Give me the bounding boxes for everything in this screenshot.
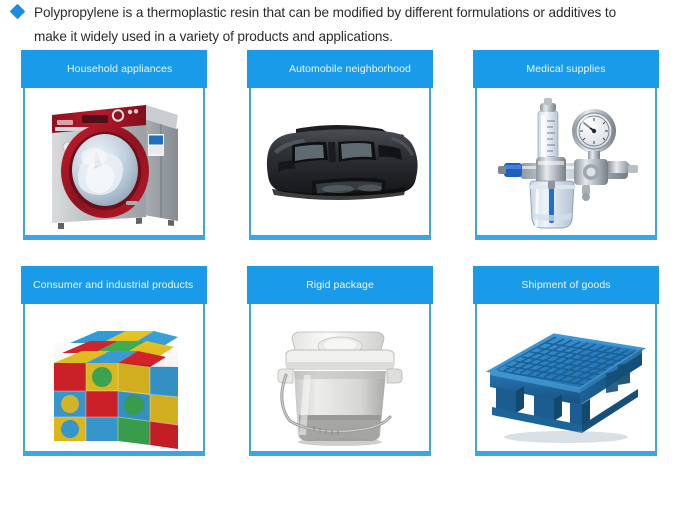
card-image-washing-machine: [23, 88, 205, 240]
card-title: Automobile neighborhood: [289, 63, 411, 76]
card-header: Automobile neighborhood: [247, 50, 433, 88]
card-image-plastic-pail: [249, 304, 431, 456]
oxygen-regulator-photo: [478, 89, 654, 235]
card-shipment-of-goods[interactable]: Shipment of goods: [473, 266, 659, 456]
intro-paragraph: Polypropylene is a thermoplastic resin t…: [0, 0, 684, 46]
diamond-bullet-icon: [9, 4, 25, 20]
car-bumper-photo: [252, 89, 428, 235]
card-title: Shipment of goods: [521, 279, 610, 292]
card-header: Rigid package: [247, 266, 433, 304]
bullet-icon-wrap: [0, 0, 34, 17]
card-automobile-neighborhood[interactable]: Automobile neighborhood: [247, 50, 433, 240]
card-image-plastic-pallet: [475, 304, 657, 456]
card-header: Consumer and industrial products: [21, 266, 207, 304]
washing-machine-photo: [26, 89, 202, 235]
plastic-pail-photo: [252, 305, 428, 451]
card-image-car-bumper: [249, 88, 431, 240]
card-title: Household appliances: [67, 63, 172, 76]
intro-text: Polypropylene is a thermoplastic resin t…: [34, 0, 684, 49]
card-header: Household appliances: [21, 50, 207, 88]
card-medical-supplies[interactable]: Medical supplies: [473, 50, 659, 240]
card-header: Shipment of goods: [473, 266, 659, 304]
card-rigid-package[interactable]: Rigid package: [247, 266, 433, 456]
card-household-appliances[interactable]: Household appliances: [21, 50, 207, 240]
card-image-oxygen-regulator: [475, 88, 657, 240]
card-title: Medical supplies: [526, 63, 605, 76]
card-title: Consumer and industrial products: [33, 279, 193, 292]
card-title: Rigid package: [306, 279, 374, 292]
card-image-toy-blocks: [23, 304, 205, 456]
card-header: Medical supplies: [473, 50, 659, 88]
plastic-pallet-photo: [478, 305, 654, 451]
card-consumer-industrial-products[interactable]: Consumer and industrial products: [21, 266, 207, 456]
product-card-grid: Household appliances: [21, 50, 653, 456]
toy-blocks-photo: [26, 305, 202, 451]
